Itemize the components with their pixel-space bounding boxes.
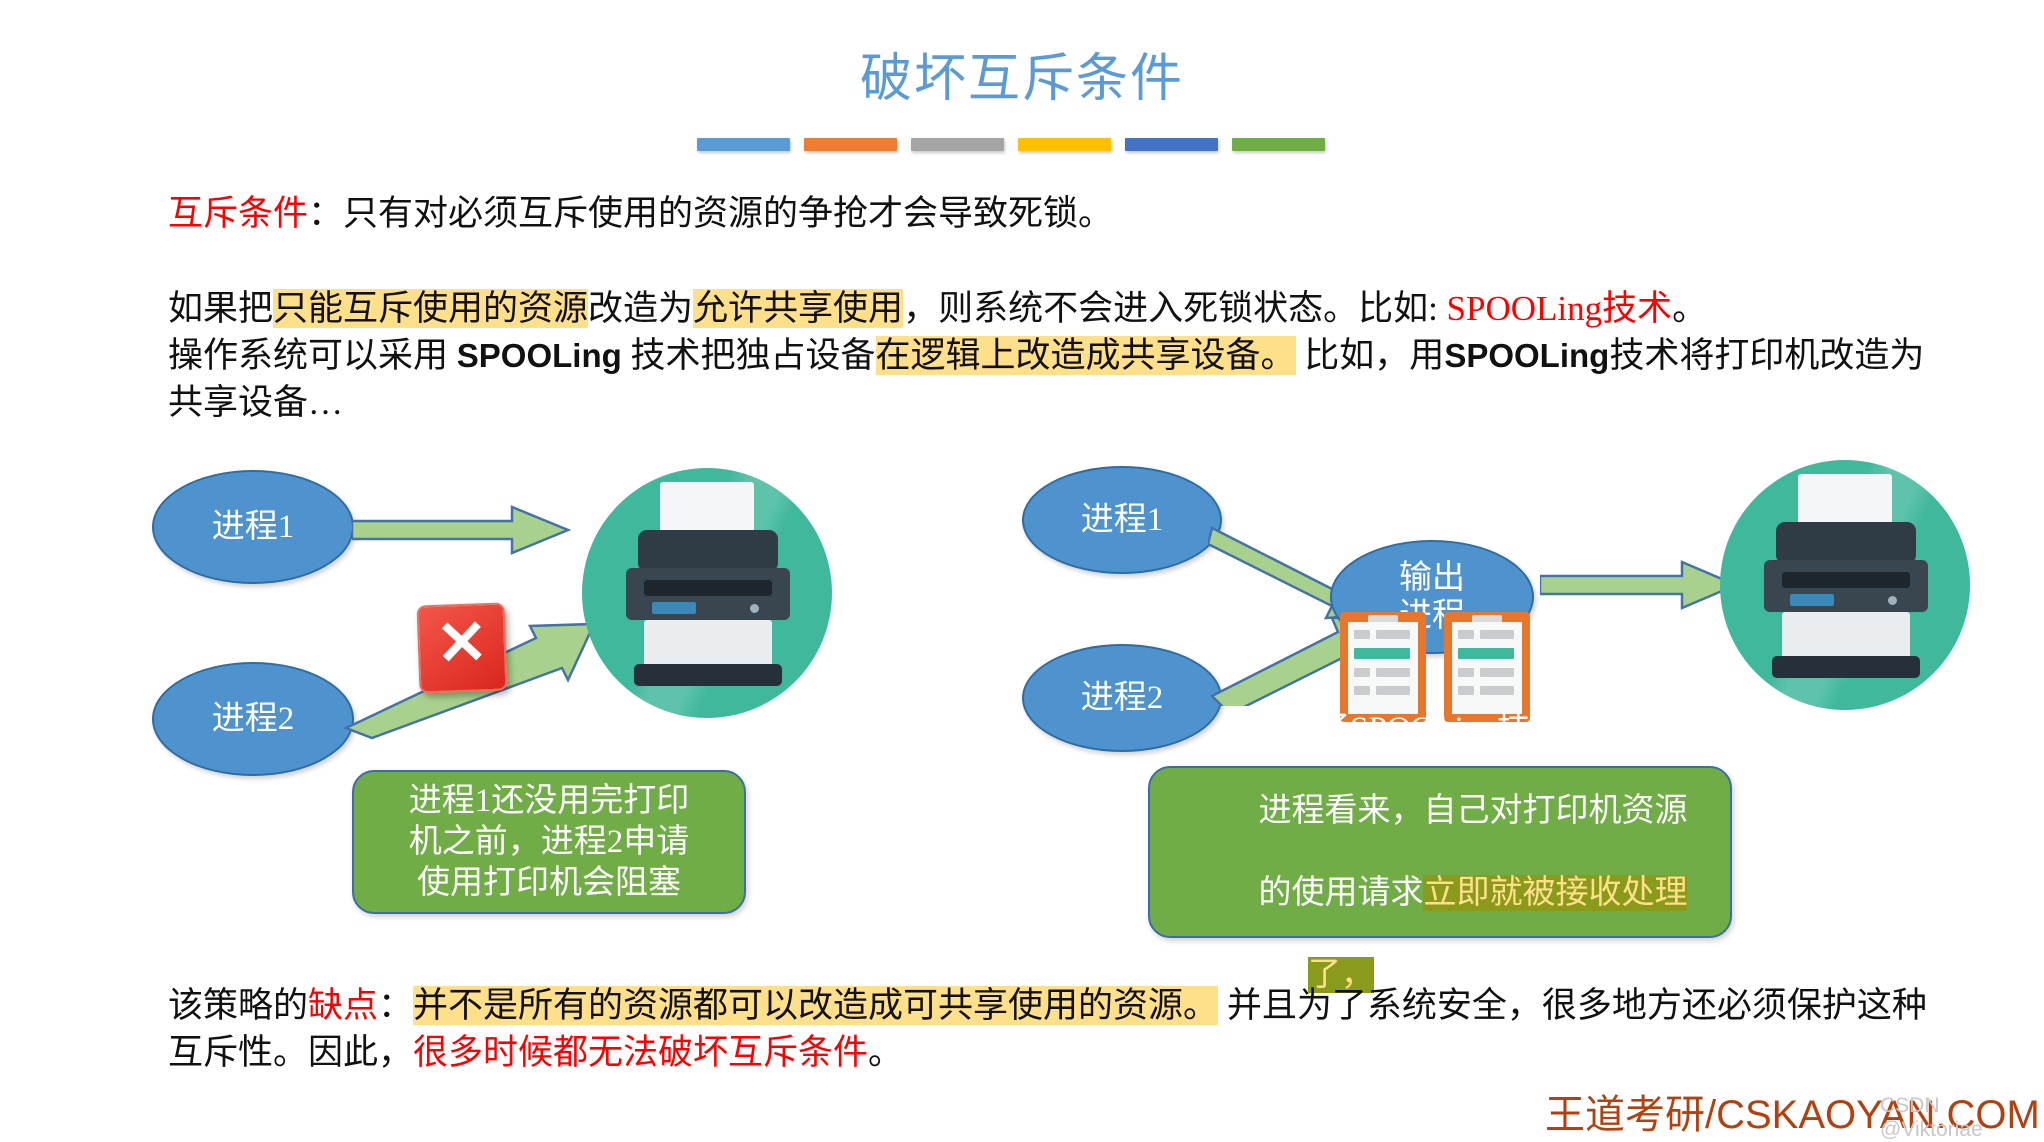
p2-seg1: 如果把	[168, 289, 273, 328]
p3-red-2: 很多时候都无法破坏互斥条件	[413, 1033, 868, 1072]
divider-bar-3	[911, 138, 1004, 151]
right-process1-oval: 进程1	[1022, 466, 1222, 574]
printer-base	[634, 664, 782, 686]
title-divider	[697, 138, 1325, 151]
printer-2-screen	[1790, 594, 1834, 606]
p2-highlight-1: 只能互斥使用的资源	[273, 289, 588, 328]
clipboard-2-row-1	[1458, 630, 1474, 639]
right-process1-label: 进程1	[1081, 501, 1164, 539]
clipboard-1-row-1	[1354, 630, 1370, 639]
printer-body-top	[638, 530, 778, 572]
printer-drawing	[582, 468, 832, 718]
left-arrow-top	[352, 505, 572, 559]
divider-bar-5	[1125, 138, 1218, 151]
right-callout-line-2: 进程看来，自己对打印机资源	[1258, 793, 1687, 829]
divider-bar-4	[1018, 138, 1111, 151]
printer-led	[750, 604, 759, 613]
printer-2-slot	[1782, 572, 1910, 588]
printer-2-body-top	[1776, 522, 1916, 564]
printer-output-tray	[644, 620, 772, 666]
printer-screen	[652, 602, 696, 614]
watermark: CSDN @Viktoriae	[1880, 1094, 2044, 1142]
left-printer-icon	[582, 468, 832, 718]
p2-seg5: 操作系统可以采用	[168, 336, 457, 375]
p3-seg2: ：	[378, 986, 413, 1025]
p2-highlight-3: 在逻辑上改造成共享设备。	[876, 336, 1296, 375]
left-process1-label: 进程1	[212, 508, 295, 546]
p3-seg4: 。	[868, 1033, 903, 1072]
slide-root: 破坏互斥条件 互斥条件：只有对必须互斥使用的资源的争抢才会导致死锁。 如果把只能…	[0, 0, 2044, 1138]
p2-lat-1: SPOOLing	[457, 337, 622, 374]
printer-2-led	[1888, 596, 1897, 605]
p2-red-1: SPOOLing技术	[1447, 289, 1673, 328]
right-printer-icon	[1720, 460, 1970, 710]
printer-slot	[644, 580, 772, 596]
x-glyph: ✕	[435, 612, 489, 676]
left-process2-label: 进程2	[212, 700, 295, 738]
p2-lat-2: SPOOLing	[1444, 337, 1609, 374]
p1-text: 只有对必须互斥使用的资源的争抢才会导致死锁。	[343, 194, 1113, 233]
p2-seg2: 改造为	[588, 289, 693, 328]
red-x-icon: ✕	[416, 602, 507, 693]
p2-seg7: 比如，用	[1296, 336, 1445, 375]
clipboard-1-row-2	[1376, 630, 1410, 639]
printer-2-output-tray	[1782, 612, 1910, 658]
divider-bar-1	[697, 138, 790, 151]
page-title: 破坏互斥条件	[0, 36, 2044, 111]
p1-label: 互斥条件	[168, 194, 308, 233]
p3-seg1: 该策略的	[168, 986, 308, 1025]
printer-drawing-2	[1720, 460, 1970, 710]
left-process1-oval: 进程1	[152, 470, 354, 584]
right-callout-line-1: 使用了SPOOLing技术后，在各	[1251, 711, 1695, 747]
p3-highlight-1: 并不是所有的资源都可以改造成可共享使用的资源。	[413, 986, 1218, 1025]
right-arrow-to-printer	[1540, 560, 1740, 614]
divider-bar-2	[804, 138, 897, 151]
right-callout-line-3-plain: 的使用请求	[1258, 875, 1423, 911]
right-process2-label: 进程2	[1081, 679, 1164, 717]
paragraph-mutual-exclusion: 互斥条件：只有对必须互斥使用的资源的争抢才会导致死锁。	[168, 190, 1928, 237]
p2-highlight-2: 允许共享使用	[693, 289, 903, 328]
left-process2-oval: 进程2	[152, 662, 354, 776]
left-callout-text: 进程1还没用完打印 机之前，进程2申请 使用打印机会阻塞	[391, 771, 708, 914]
right-callout: 使用了SPOOLing技术后，在各 进程看来，自己对打印机资源 的使用请求立即就…	[1148, 766, 1732, 938]
divider-bar-6	[1232, 138, 1325, 151]
right-callout-line-3-highlight: 立即就被接收处理	[1423, 875, 1687, 911]
left-callout: 进程1还没用完打印 机之前，进程2申请 使用打印机会阻塞	[352, 770, 746, 914]
clipboard-2-row-2	[1480, 630, 1514, 639]
p2-seg4: 。	[1672, 289, 1707, 328]
paragraph-drawback: 该策略的缺点：并不是所有的资源都可以改造成可共享使用的资源。 并且为了系统安全，…	[168, 982, 1958, 1076]
printer-2-base	[1772, 656, 1920, 678]
p1-colon: ：	[308, 194, 343, 233]
p3-red-1: 缺点	[308, 986, 378, 1025]
paragraph-spooling: 如果把只能互斥使用的资源改造为允许共享使用，则系统不会进入死锁状态。比如: SP…	[168, 285, 1958, 426]
p2-seg6: 技术把独占设备	[622, 336, 876, 375]
p2-seg3: ，则系统不会进入死锁状态。比如:	[903, 289, 1446, 328]
